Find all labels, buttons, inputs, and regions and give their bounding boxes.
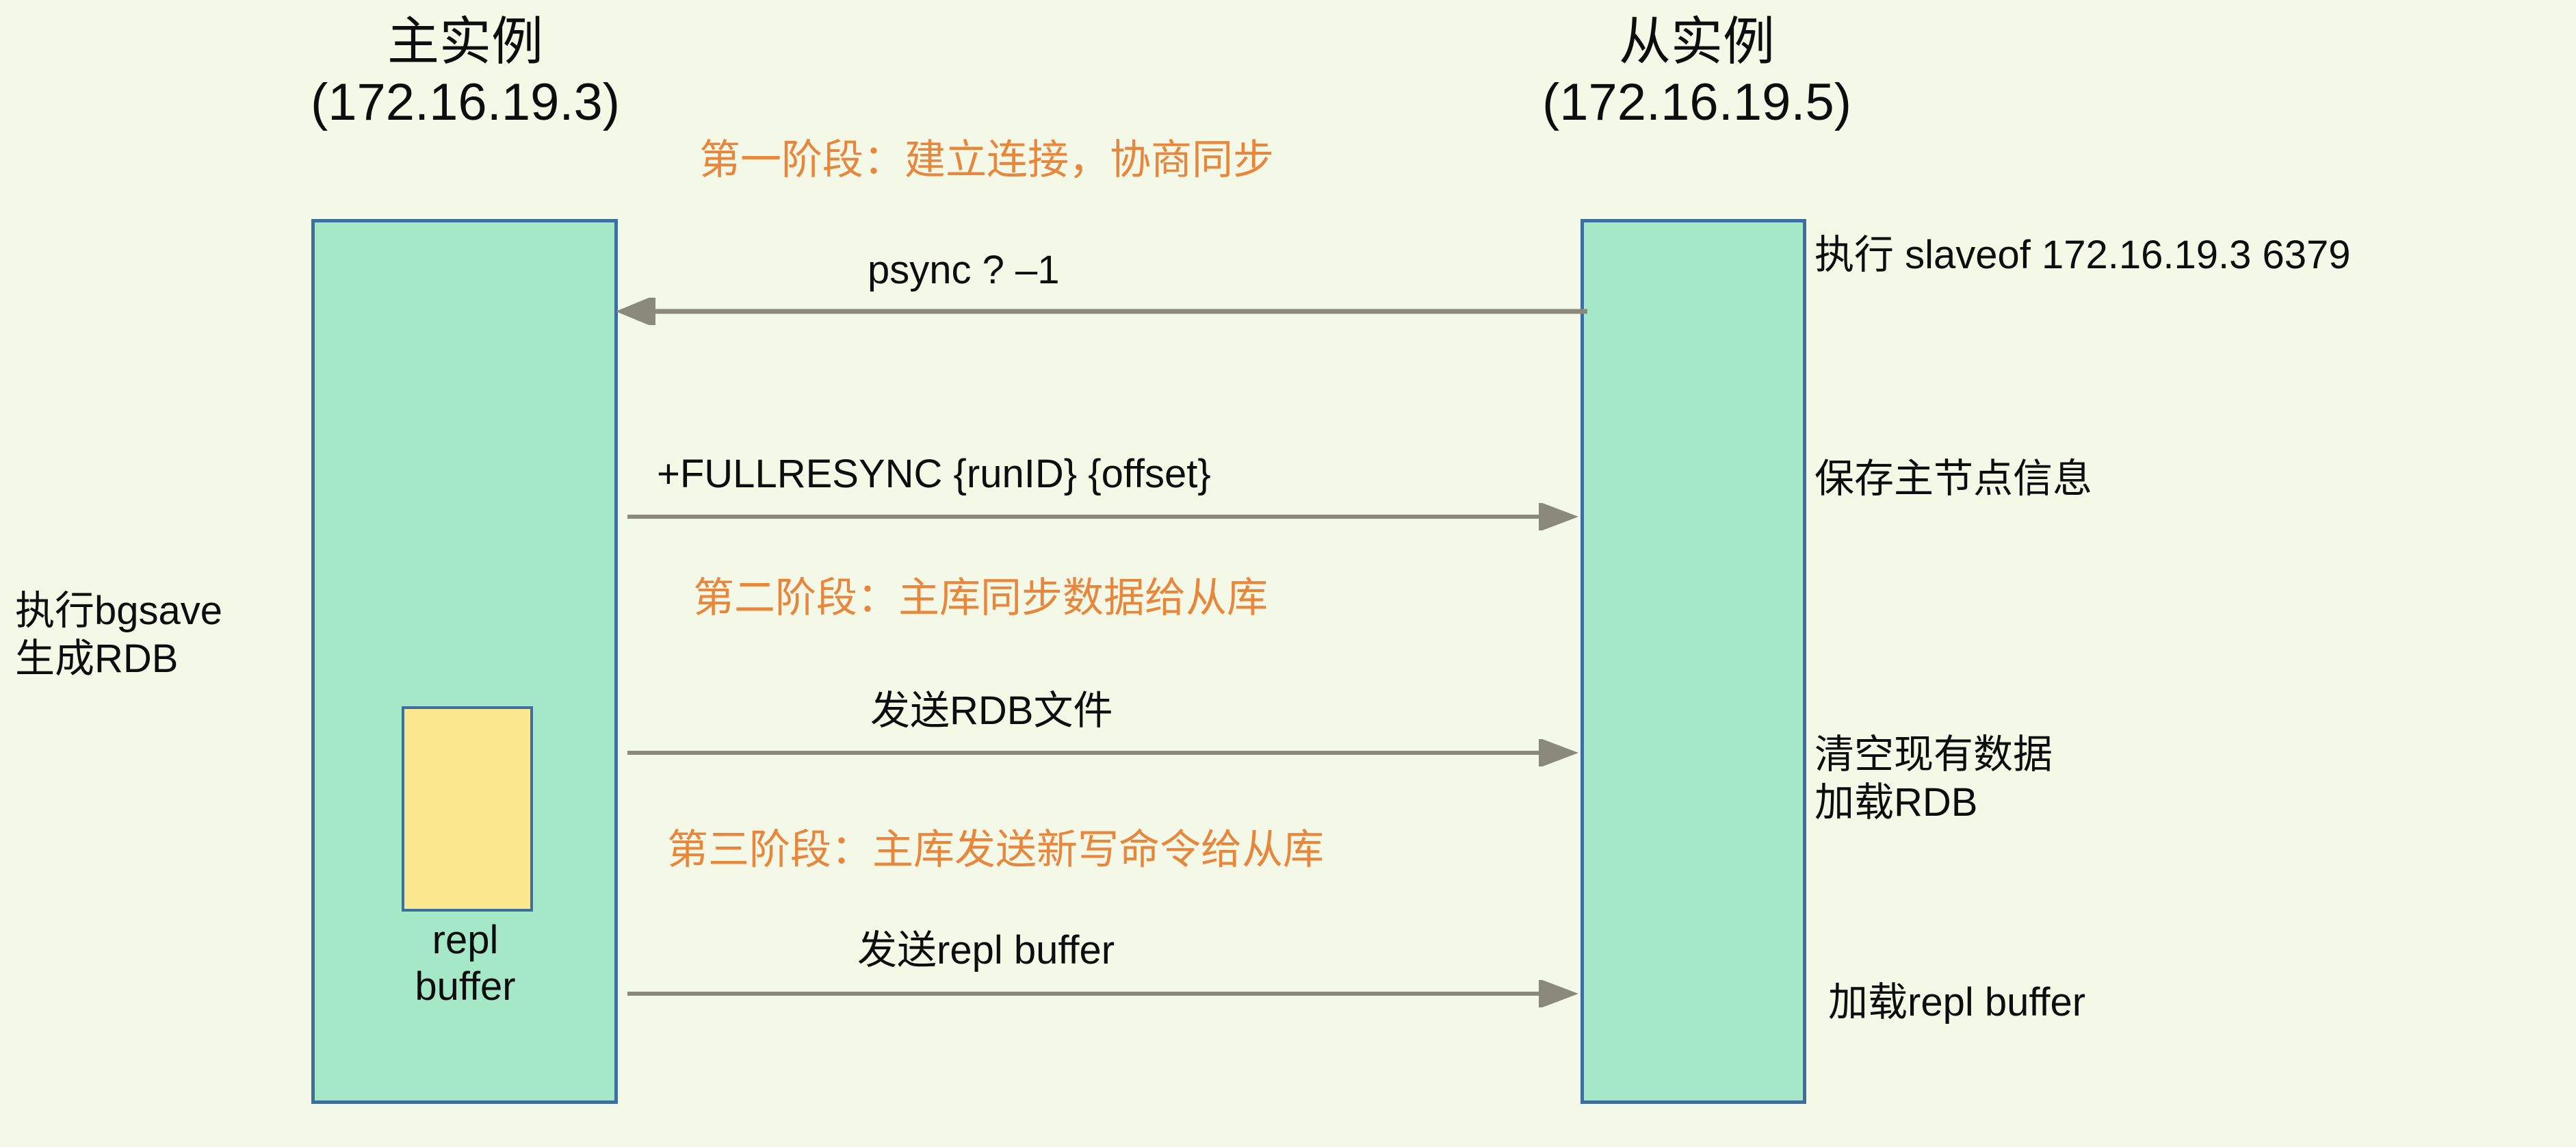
master-note-bgsave-line1: 执行bgsave bbox=[15, 589, 222, 633]
repl-buffer-label: repl buffer bbox=[335, 917, 595, 1010]
master-instance-heading: 主实例 (172.16.19.3) bbox=[198, 12, 732, 133]
phase-1-caption: 第一阶段：建立连接，协商同步 bbox=[699, 137, 1274, 183]
slave-note-flush-line1: 清空现有数据 bbox=[1814, 732, 2053, 777]
master-title: 主实例 bbox=[387, 13, 543, 71]
slave-note-save-master-info: 保存主节点信息 bbox=[1814, 455, 2092, 503]
message-label-fullresync: +FULLRESYNC {runID} {offset} bbox=[657, 452, 1211, 497]
replication-diagram-canvas: 主实例 (172.16.19.3) 从实例 (172.16.19.5) repl… bbox=[0, 0, 2576, 1147]
message-label-send-repl-buffer: 发送repl buffer bbox=[857, 928, 1115, 973]
phase-2-caption: 第二阶段：主库同步数据给从库 bbox=[693, 575, 1268, 621]
arrow-right-send-repl-buffer bbox=[627, 980, 1578, 1007]
slave-note-slaveof: 执行 slaveof 172.16.19.3 6379 bbox=[1814, 231, 2351, 279]
slave-note-load-repl-buffer: 加载repl buffer bbox=[1828, 979, 2085, 1027]
slave-note-slaveof-line1: 执行 slaveof 172.16.19.3 6379 bbox=[1814, 233, 2351, 277]
master-address: (172.16.19.3) bbox=[198, 73, 732, 133]
slave-note-load-repl-buffer-line1: 加载repl buffer bbox=[1828, 980, 2085, 1024]
repl-buffer-box bbox=[402, 706, 533, 912]
slave-note-save-master-info-line1: 保存主节点信息 bbox=[1814, 456, 2092, 501]
slave-title: 从实例 bbox=[1619, 13, 1775, 71]
message-label-psync: psync ? –1 bbox=[868, 248, 1060, 293]
arrow-right-fullresync bbox=[627, 503, 1578, 530]
master-note-bgsave: 执行bgsave 生成RDB bbox=[15, 587, 222, 683]
slave-note-flush-and-load: 清空现有数据 加载RDB bbox=[1814, 731, 2053, 827]
arrow-right-send-rdb bbox=[627, 739, 1578, 766]
slave-address: (172.16.19.5) bbox=[1409, 73, 1984, 133]
master-note-bgsave-line2: 生成RDB bbox=[15, 635, 222, 683]
slave-note-flush-line2: 加载RDB bbox=[1814, 779, 2053, 827]
slave-instance-column bbox=[1580, 219, 1806, 1104]
repl-buffer-label-line2: buffer bbox=[335, 964, 595, 1010]
repl-buffer-label-line1: repl bbox=[432, 918, 499, 962]
message-label-send-rdb: 发送RDB文件 bbox=[870, 688, 1113, 734]
phase-3-caption: 第三阶段：主库发送新写命令给从库 bbox=[667, 827, 1324, 873]
arrow-left-psync bbox=[616, 298, 1587, 325]
slave-instance-heading: 从实例 (172.16.19.5) bbox=[1409, 12, 1984, 133]
